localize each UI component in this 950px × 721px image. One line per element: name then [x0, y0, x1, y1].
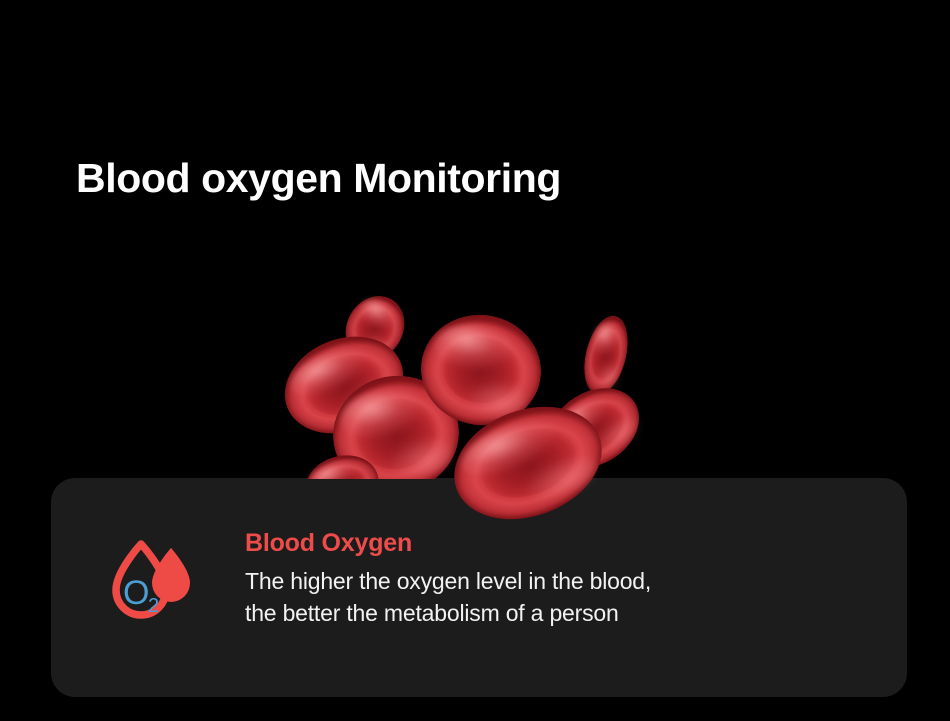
- slide-root: Blood oxygen Monitoring: [0, 0, 950, 721]
- blood-drop-o2-icon-svg: O 2: [108, 538, 194, 630]
- cells-upper-group: [0, 0, 950, 479]
- blood-drop-filled: [152, 548, 190, 602]
- blood-cell: [534, 372, 654, 484]
- card-description-line-1: The higher the oxygen level in the blood…: [245, 566, 865, 598]
- card-description-line-2: the better the metabolism of a person: [245, 598, 865, 630]
- blood-oxygen-heading: Blood Oxygen: [245, 528, 865, 558]
- blood-cell: [414, 307, 548, 433]
- card-text-block: Blood Oxygen The higher the oxygen level…: [245, 528, 865, 629]
- o2-label: O: [123, 574, 149, 612]
- o2-subscript: 2: [148, 595, 159, 617]
- page-title: Blood oxygen Monitoring: [76, 156, 561, 201]
- blood-cell: [298, 447, 385, 479]
- blood-cell: [270, 319, 418, 450]
- blood-cell: [334, 285, 415, 370]
- blood-cell: [577, 311, 635, 398]
- blood-drop-o2-icon: O 2: [108, 538, 194, 630]
- blood-cell: [324, 366, 468, 479]
